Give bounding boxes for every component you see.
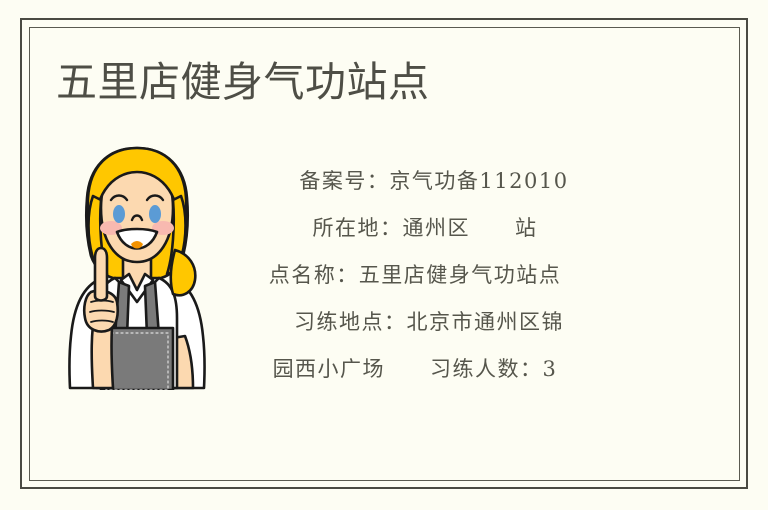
page-title: 五里店健身气功站点 (56, 58, 430, 106)
index-finger (95, 248, 107, 301)
info-line-location: 所在地：通州区 站 (205, 205, 625, 252)
info-line-practice-count: 园西小广场 习练人数：3 (205, 346, 625, 393)
station-info-text: 备案号：京气功备112010 所在地：通州区 站 点名称：五里店健身气功站点 习… (205, 158, 625, 393)
info-line-station-name: 点名称：五里店健身气功站点 (205, 252, 625, 299)
hair-ponytail (171, 250, 195, 295)
eye-left (113, 205, 125, 223)
station-info-card: 五里店健身气功站点 (0, 0, 768, 510)
pointing-woman-illustration (57, 140, 217, 390)
info-line-practice-place: 习练地点：北京市通州区锦 (205, 299, 625, 346)
eye-right (149, 205, 161, 223)
info-line-record-number: 备案号：京气功备112010 (205, 158, 625, 205)
